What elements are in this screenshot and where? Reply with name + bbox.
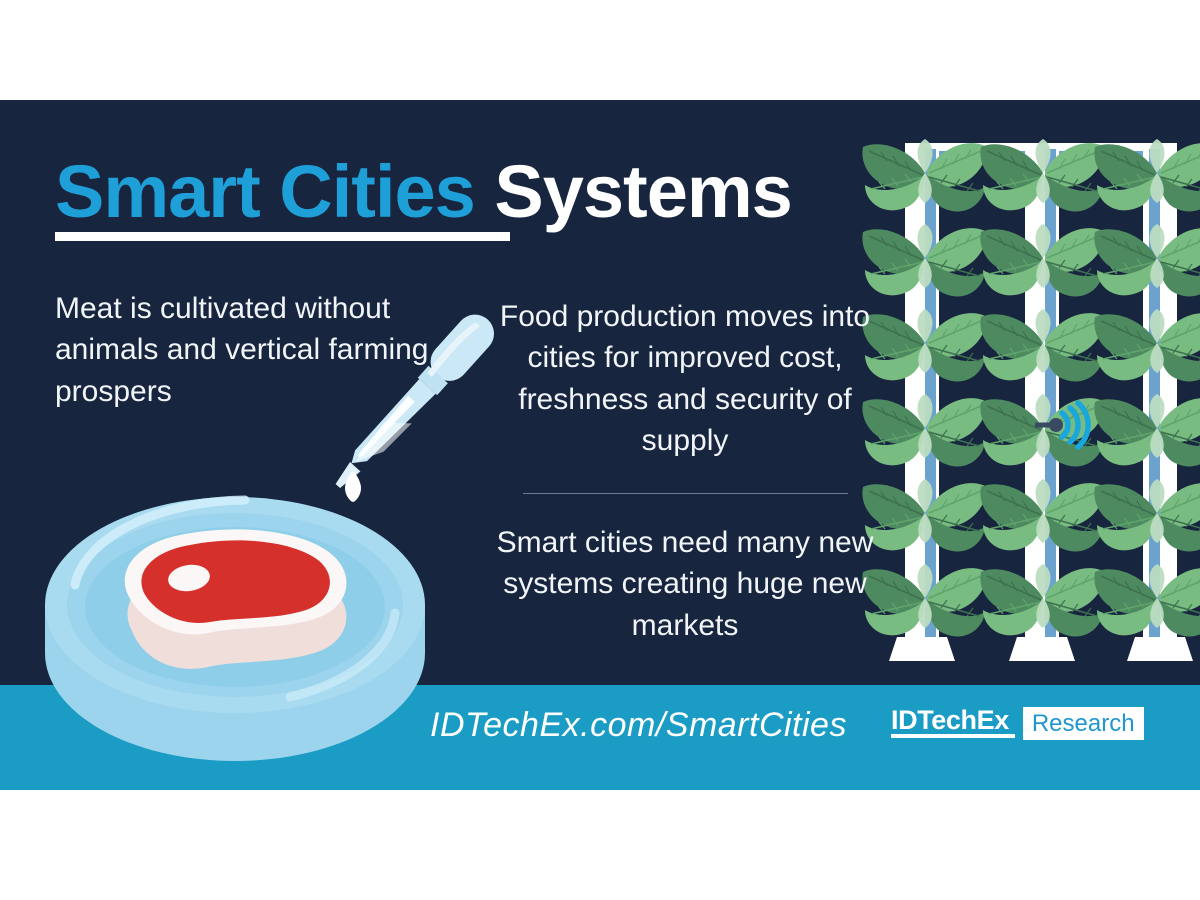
title-underline [55,232,510,241]
logo-research-badge: Research [1023,707,1144,740]
middle-column-divider [523,493,848,494]
infographic-canvas: Smart Cities Systems Meat is cultivated … [0,0,1200,900]
idtechex-logo[interactable]: IDTechEx Research [891,707,1144,740]
page-title-accent: Smart Cities [55,150,475,233]
pipette-illustration [285,300,505,530]
logo-wordmark: IDTechEx [891,707,1015,738]
vertical-farm-illustration [885,125,1200,685]
footer-url[interactable]: IDTechEx.com/SmartCities [430,706,847,745]
page-title: Smart Cities Systems [55,155,792,229]
middle-column-text-2: Smart cities need many new systems creat… [490,522,880,646]
middle-column-text-1: Food production moves into cities for im… [490,296,880,462]
page-title-plain: Systems [475,150,792,233]
